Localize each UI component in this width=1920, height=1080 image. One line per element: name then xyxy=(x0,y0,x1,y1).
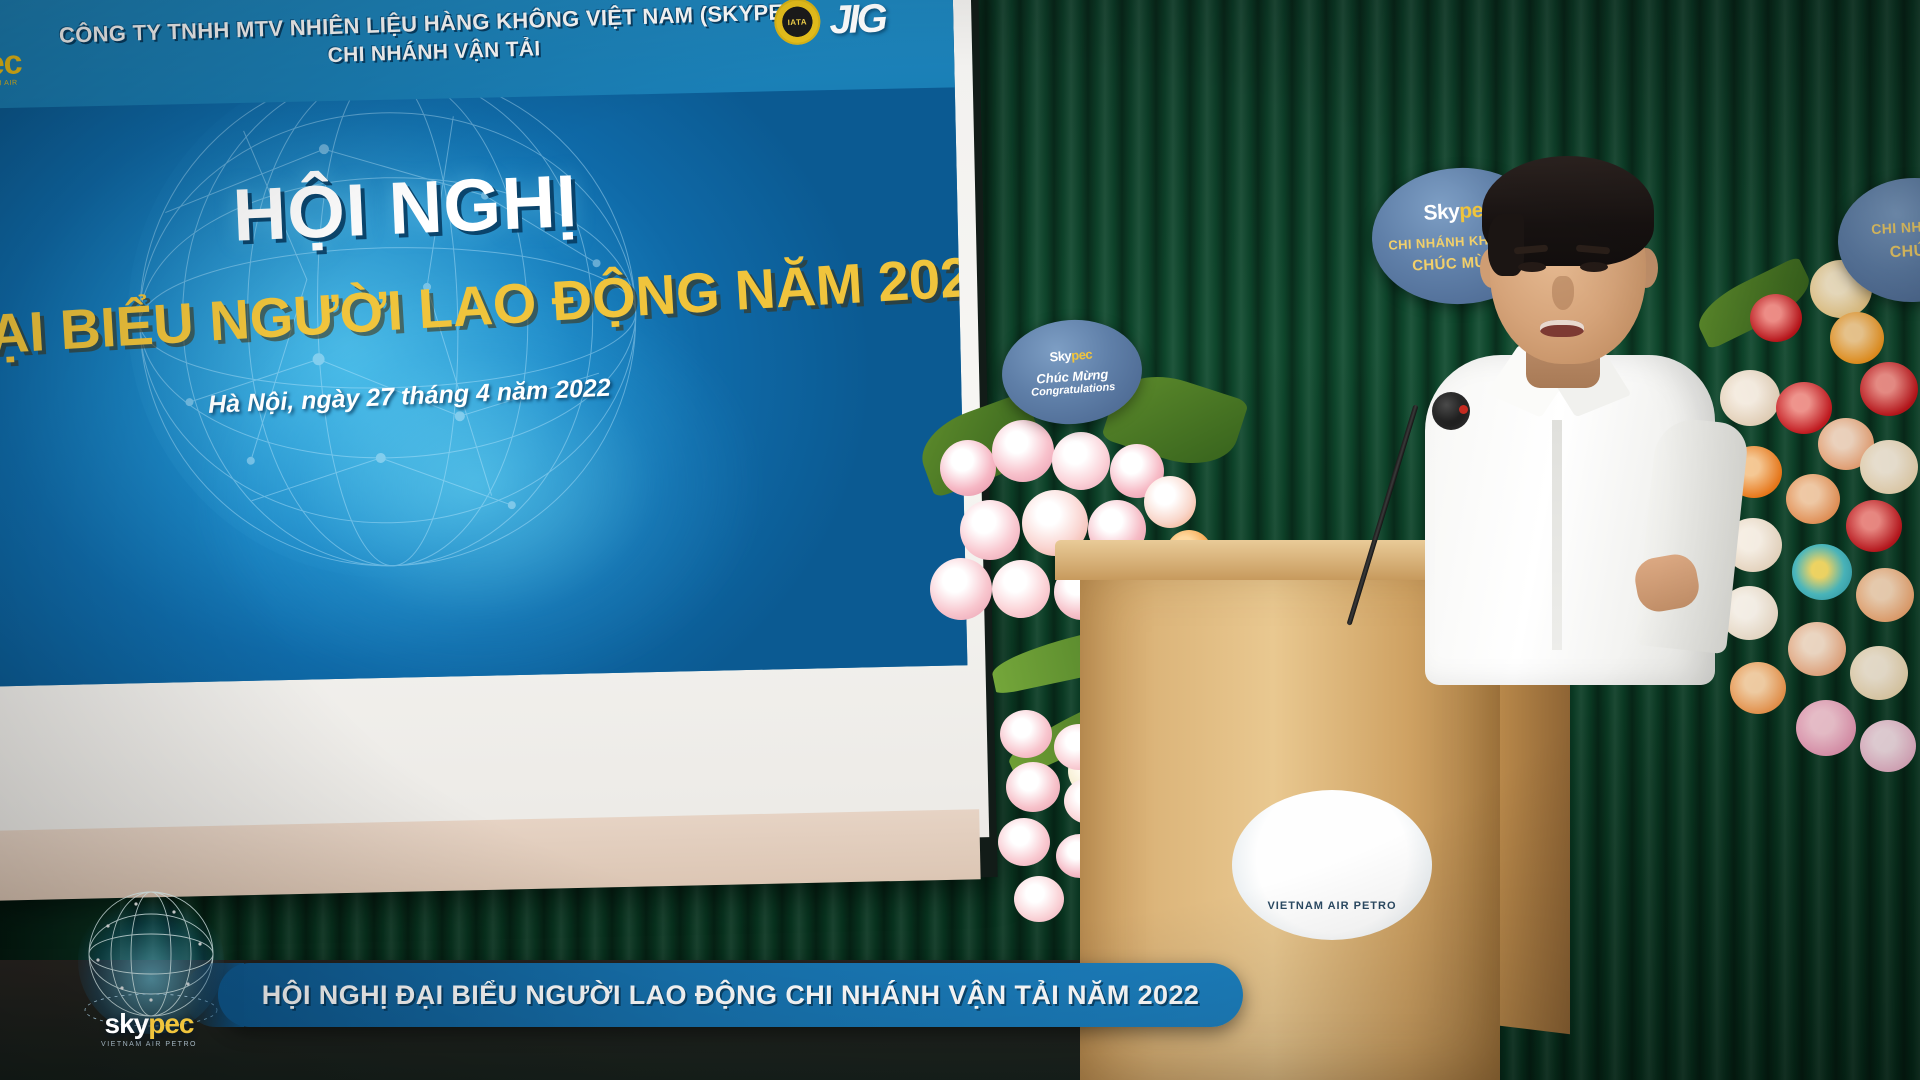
speaker-eye-right xyxy=(1580,262,1608,272)
podium-emblem: VIETNAM AIR PETRO xyxy=(1232,790,1432,940)
sign-left-brand-sky: Sky xyxy=(1049,348,1072,364)
photo-scene: pec VIETNAM AIR PETRO CÔNG TY TNHH MTV N… xyxy=(0,0,1920,1080)
lower-third-caption-bar: HỘI NGHỊ ĐẠI BIỂU NGƯỜI LAO ĐỘNG CHI NHÁ… xyxy=(218,963,1243,1027)
speaker-shirt-placket xyxy=(1552,420,1562,650)
presentation-slide: pec VIETNAM AIR PETRO CÔNG TY TNHH MTV N… xyxy=(0,0,967,687)
sign-right-line1: CHI NHÁNH xyxy=(1871,217,1920,237)
speaker-eye-left xyxy=(1518,262,1546,272)
podium-emblem-text: VIETNAM AIR PETRO xyxy=(1267,900,1396,912)
jig-logo-icon: JIG xyxy=(829,0,886,41)
lower-third-caption-text: HỘI NGHỊ ĐẠI BIỂU NGƯỜI LAO ĐỘNG CHI NHÁ… xyxy=(262,980,1200,1011)
sign-right-line2: CHÚC xyxy=(1889,242,1920,262)
skypec-logo-partial: pec VIETNAM AIR PETRO xyxy=(0,43,37,96)
iata-logo-label: IATA xyxy=(787,17,807,27)
speaker-nose xyxy=(1552,276,1574,310)
watermark-brand-sky: sky xyxy=(105,1008,149,1039)
watermark-brand: skypec xyxy=(105,1008,194,1040)
microphone-head-icon xyxy=(1432,392,1470,430)
sign-left-brand-pec: pec xyxy=(1071,347,1093,363)
sign-center-brand-sky: Sky xyxy=(1423,200,1460,225)
speaker-mouth xyxy=(1540,320,1584,337)
watermark-tagline: VIETNAM AIR PETRO xyxy=(58,1041,240,1048)
watermark-brand-pec: pec xyxy=(148,1008,193,1039)
speaker-hair xyxy=(1482,156,1654,266)
